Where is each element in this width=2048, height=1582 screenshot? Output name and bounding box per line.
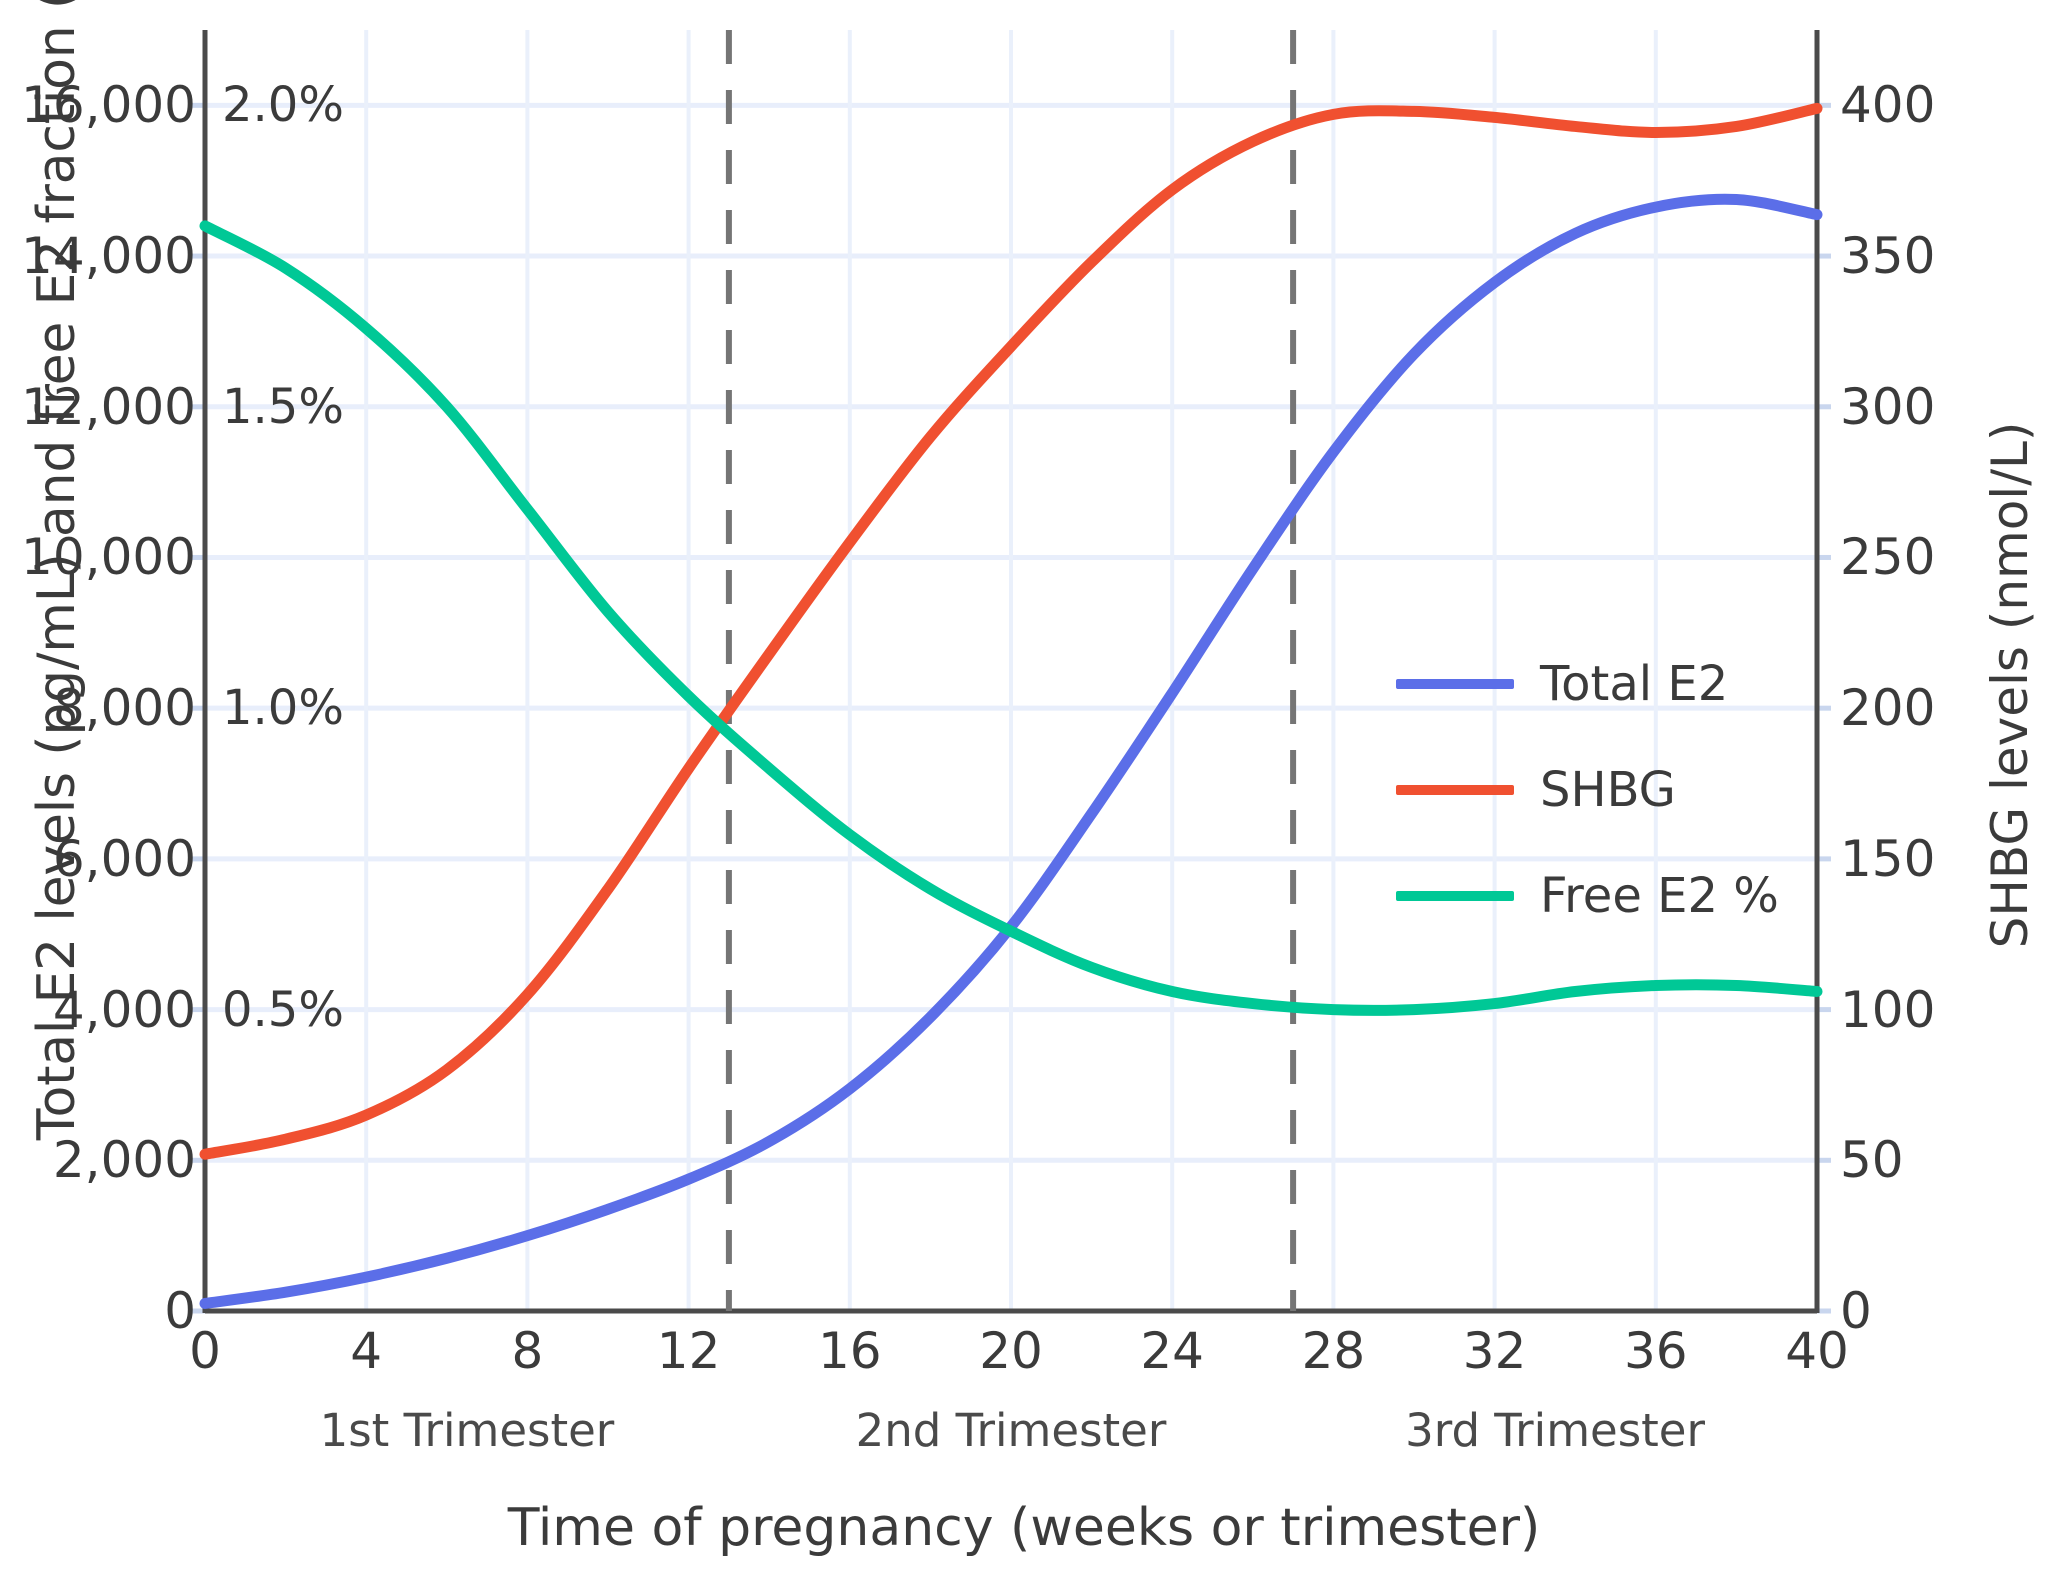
x-tick-label: 0 [189, 1322, 221, 1380]
right-tick-label: 100 [1840, 981, 1935, 1039]
left-tick-label: 4,000 [53, 981, 196, 1039]
x-tick-label: 20 [979, 1322, 1043, 1380]
legend-swatch-shbg [1396, 785, 1514, 795]
right-tick-label: 250 [1840, 528, 1935, 586]
left-tick-label: 16,000 [21, 76, 196, 134]
right-tick-label: 200 [1840, 679, 1935, 737]
legend-item-shbg[interactable]: SHBG [1396, 762, 1779, 818]
legend-label-shbg: SHBG [1540, 762, 1676, 818]
left-tick-label: 12,000 [21, 378, 196, 436]
percent-annotation: 2.0% [222, 77, 344, 133]
x-tick-label: 8 [511, 1322, 543, 1380]
right-tick-label: 400 [1840, 76, 1935, 134]
legend-label-free-e2: Free E2 % [1540, 868, 1779, 924]
x-tick-label: 36 [1624, 1322, 1688, 1380]
x-tick-label: 16 [818, 1322, 882, 1380]
trimester-label: 1st Trimester [320, 1404, 615, 1457]
x-tick-label: 32 [1463, 1322, 1527, 1380]
legend-item-free-e2[interactable]: Free E2 % [1396, 868, 1779, 924]
x-tick-label: 40 [1785, 1322, 1849, 1380]
right-tick-label: 300 [1840, 378, 1935, 436]
right-tick-label: 50 [1840, 1131, 1904, 1189]
x-axis-title: Time of pregnancy (weeks or trimester) [0, 1498, 2048, 1558]
chart-legend: Total E2 SHBG Free E2 % [1396, 656, 1779, 924]
left-tick-label: 14,000 [21, 227, 196, 285]
percent-annotation: 1.5% [222, 379, 344, 435]
right-tick-label: 350 [1840, 227, 1935, 285]
left-tick-label: 8,000 [53, 679, 196, 737]
left-tick-label: 6,000 [53, 830, 196, 888]
trimester-label: 3rd Trimester [1405, 1404, 1705, 1457]
x-tick-label: 28 [1302, 1322, 1366, 1380]
x-tick-label: 4 [350, 1322, 382, 1380]
right-axis-title: SHBG levels (nmol/L) [1975, 305, 2045, 1065]
left-tick-label: 10,000 [21, 528, 196, 586]
legend-swatch-total-e2 [1396, 679, 1514, 689]
percent-annotation: 0.5% [222, 982, 344, 1038]
left-tick-label: 2,000 [53, 1131, 196, 1189]
chart-figure: Total E2 levels (pg/mL) and free E2 frac… [0, 0, 2048, 1582]
legend-item-total-e2[interactable]: Total E2 [1396, 656, 1779, 712]
legend-label-total-e2: Total E2 [1540, 656, 1728, 712]
x-tick-label: 12 [657, 1322, 721, 1380]
percent-annotation: 1.0% [222, 680, 344, 736]
trimester-label: 2nd Trimester [856, 1404, 1167, 1457]
legend-swatch-free-e2 [1396, 891, 1514, 901]
right-tick-label: 150 [1840, 830, 1935, 888]
x-tick-label: 24 [1140, 1322, 1204, 1380]
